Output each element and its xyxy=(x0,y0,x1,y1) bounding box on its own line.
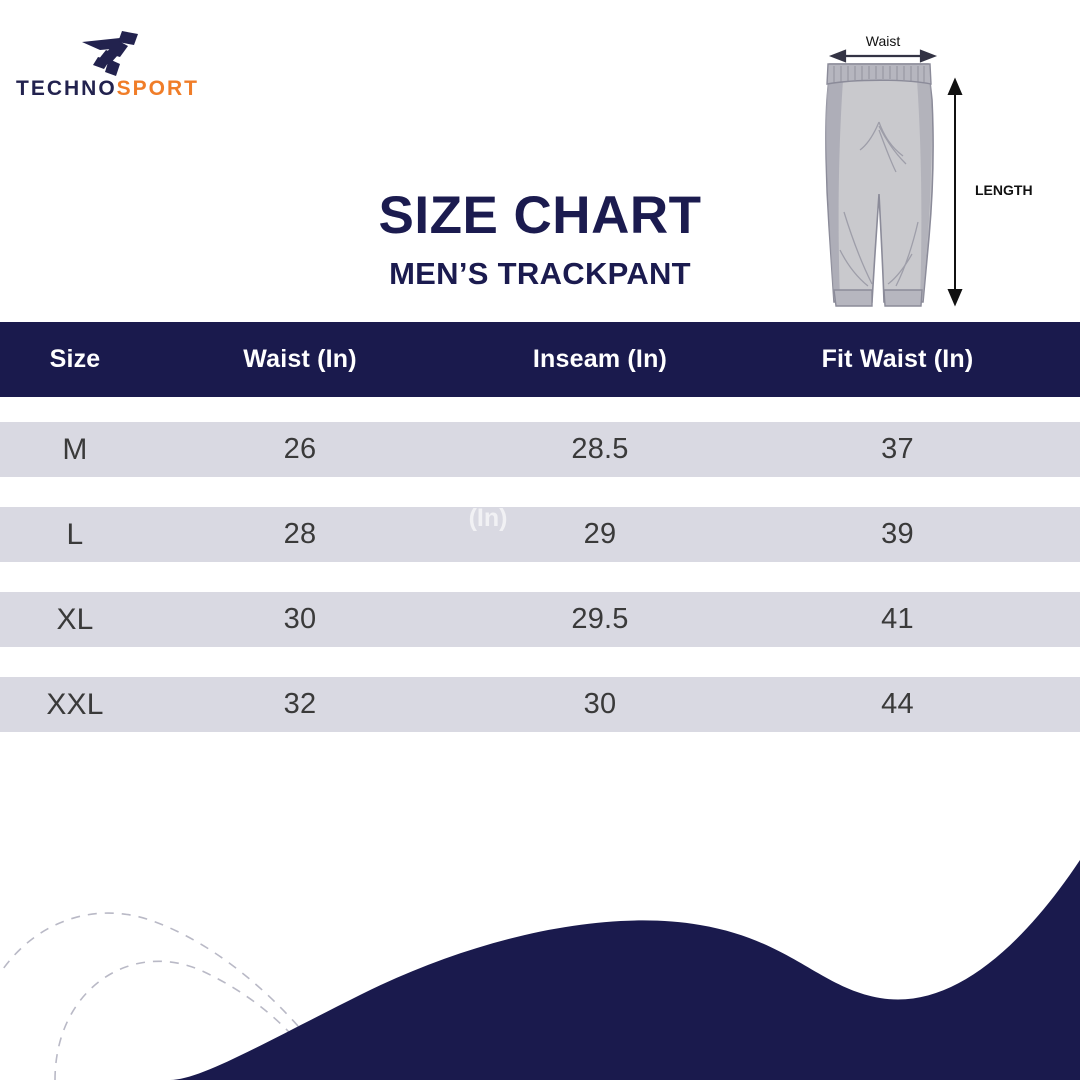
cell-fit-waist: 41 xyxy=(750,603,1045,636)
trackpant-illustration: Waist LENGTH xyxy=(800,22,1080,322)
table-row: XXL 32 30 44 xyxy=(0,677,1080,732)
brand-logo: TECHNOSPORT xyxy=(16,26,236,104)
length-measure-label: LENGTH xyxy=(975,182,1033,198)
navy-wave-shape xyxy=(170,860,1080,1080)
brand-wordmark: TECHNOSPORT xyxy=(16,78,216,100)
column-header-size: Size xyxy=(0,345,150,374)
cell-waist: 30 xyxy=(150,603,450,636)
cell-fit-waist: 37 xyxy=(750,433,1045,466)
cell-size: L xyxy=(0,518,150,552)
cell-size: M xyxy=(0,433,150,467)
cell-size: XL xyxy=(0,603,150,637)
column-header-fit-waist: Fit Waist (In) xyxy=(750,345,1045,374)
cell-fit-waist: 44 xyxy=(750,688,1045,721)
table-row: M 26 28.5 37 xyxy=(0,422,1080,477)
table-header-row: Size Waist (In) Inseam (In) Fit Waist (I… xyxy=(0,322,1080,397)
cell-waist: 28 xyxy=(150,518,450,551)
dashed-arc-outer xyxy=(0,913,340,1080)
table-body: M 26 28.5 37 L 28 29 39 XL 30 29.5 41 XX… xyxy=(0,397,1080,732)
cell-waist: 26 xyxy=(150,433,450,466)
cell-size: XXL xyxy=(0,688,150,722)
column-header-inseam: Inseam (In) xyxy=(450,345,750,374)
cell-waist: 32 xyxy=(150,688,450,721)
cell-fit-waist: 39 xyxy=(750,518,1045,551)
running-athlete-icon xyxy=(76,26,148,76)
cell-inseam: 28.5 xyxy=(450,433,750,466)
cell-inseam: 30 xyxy=(450,688,750,721)
size-chart-table: Size Waist (In) Inseam (In) Fit Waist (I… xyxy=(0,322,1080,762)
trackpant-body xyxy=(826,64,933,306)
vertical-double-arrow-icon xyxy=(949,80,961,304)
dashed-arc-inner xyxy=(55,961,325,1080)
brand-name-primary: TECHNO xyxy=(16,77,117,100)
cell-inseam: 29.5 xyxy=(450,603,750,636)
waist-measure-label: Waist xyxy=(866,33,901,49)
horizontal-double-arrow-icon xyxy=(832,51,934,61)
column-header-waist: Waist (In) xyxy=(150,345,450,374)
bottom-decoration xyxy=(0,820,1080,1080)
inseam-unit-artifact: (In) xyxy=(462,502,514,534)
table-row: XL 30 29.5 41 xyxy=(0,592,1080,647)
table-row: L 28 29 39 xyxy=(0,507,1080,562)
brand-name-secondary: SPORT xyxy=(117,77,199,100)
